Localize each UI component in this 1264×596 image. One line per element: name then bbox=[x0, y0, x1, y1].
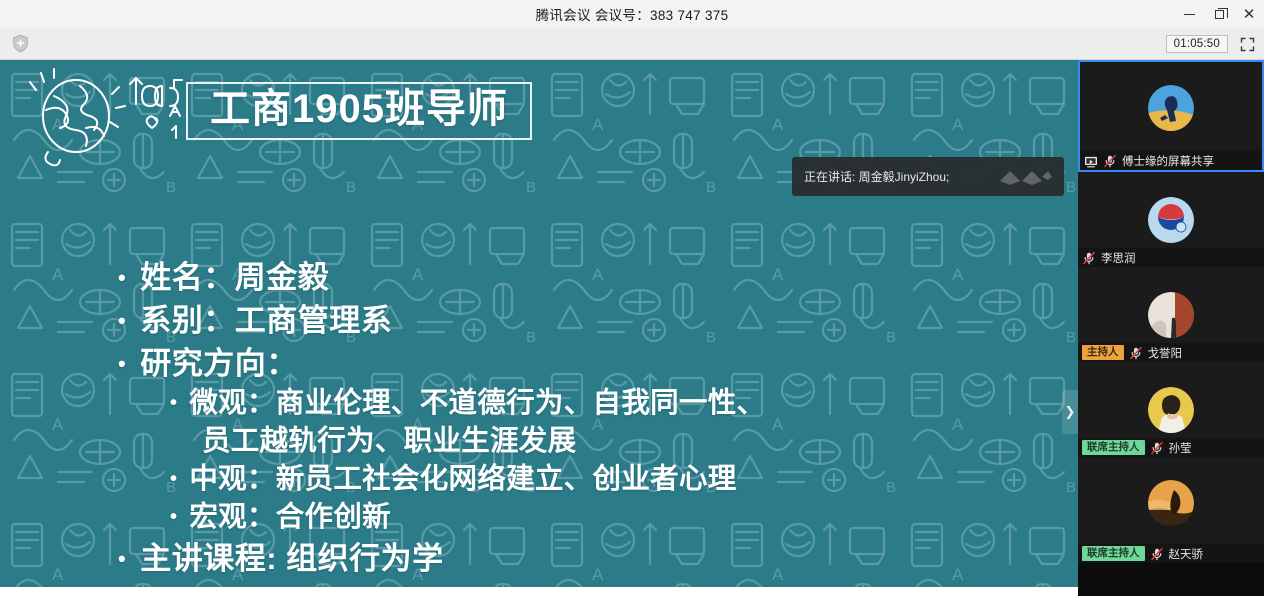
minimize-button[interactable] bbox=[1174, 0, 1204, 28]
participant-tile[interactable]: 傅士缘的屏幕共享 bbox=[1078, 60, 1264, 172]
mic-muted-icon bbox=[1129, 346, 1143, 360]
mic-muted-icon bbox=[1150, 441, 1164, 455]
avatar bbox=[1148, 480, 1194, 526]
active-speaker-toast: 正在讲话: 周金毅JinyiZhou; bbox=[792, 157, 1064, 196]
participant-name: 孙莹 bbox=[1169, 440, 1192, 456]
slide-bottom-strip bbox=[0, 587, 1078, 596]
participant-bar: 联席主持人 孙莹 bbox=[1078, 438, 1264, 457]
window-controls: ✕ bbox=[1174, 0, 1264, 28]
slide-subbullet-lead: 微观：商业伦理、不道德行为、自我同一性、 bbox=[170, 387, 765, 419]
participant-rail[interactable]: 傅士缘的屏幕共享 pepsi bbox=[1078, 60, 1264, 596]
avatar bbox=[1148, 292, 1194, 338]
globe-doodle-icon bbox=[24, 68, 184, 168]
host-badge: 主持人 bbox=[1082, 345, 1124, 361]
participant-tile[interactable]: 联席主持人 赵天骄 bbox=[1078, 457, 1264, 563]
participant-bar: 李思润 bbox=[1078, 248, 1264, 267]
close-icon: ✕ bbox=[1243, 7, 1256, 22]
fullscreen-icon bbox=[1240, 37, 1255, 52]
participant-bar: 主持人 戈誉阳 bbox=[1078, 343, 1264, 362]
participant-name: 李思润 bbox=[1101, 250, 1136, 266]
slide-subbullet: 宏观：合作创新 bbox=[170, 499, 1018, 537]
slide-body: 姓名：周金毅 系别：工商管理系 研究方向： 微观：商业伦理、不道德行为、自我同一… bbox=[118, 256, 1018, 580]
fullscreen-button[interactable] bbox=[1236, 33, 1258, 55]
slide-bullet: 研究方向： bbox=[118, 342, 1018, 385]
cohost-badge: 联席主持人 bbox=[1082, 440, 1145, 456]
screen-share-icon bbox=[1084, 155, 1098, 167]
slide-header: 工商1905班导师 bbox=[0, 60, 1078, 170]
minimize-icon bbox=[1184, 14, 1195, 15]
slide-subbullet-continuation: 员工越轨行为、职业生涯发展 bbox=[202, 423, 1018, 461]
chevron-right-icon: ❯ bbox=[1065, 404, 1076, 420]
cohost-badge: 联席主持人 bbox=[1082, 546, 1145, 562]
avatar: pepsi bbox=[1148, 197, 1194, 243]
mic-muted-icon bbox=[1103, 154, 1117, 168]
slide-bullet-course: 主讲课程: 组织行为学 bbox=[118, 537, 1018, 580]
slide-subbullet-group: 微观：商业伦理、不道德行为、自我同一性、 员工越轨行为、职业生涯发展 中观：新员… bbox=[170, 385, 1018, 537]
slide-bullet: 姓名：周金毅 bbox=[118, 256, 1018, 299]
meeting-stage: A B bbox=[0, 60, 1264, 596]
slide-subbullet: 中观：新员工社会化网络建立、创业者心理 bbox=[170, 461, 1018, 499]
mic-muted-icon bbox=[1082, 251, 1096, 265]
maximize-icon bbox=[1215, 10, 1224, 19]
slide-subbullet: 微观：商业伦理、不道德行为、自我同一性、 员工越轨行为、职业生涯发展 bbox=[170, 385, 1018, 461]
security-shield-button[interactable] bbox=[8, 33, 32, 55]
slide-title: 工商1905班导师 bbox=[210, 88, 508, 130]
maximize-button[interactable] bbox=[1204, 0, 1234, 28]
slide-subbullet-lead: 中观：新员工社会化网络建立、创业者心理 bbox=[170, 463, 737, 495]
toolbar-right-group: 01:05:50 bbox=[1166, 28, 1258, 60]
shield-icon bbox=[12, 34, 29, 53]
slide-subbullet-lead: 宏观：合作创新 bbox=[170, 501, 391, 533]
meeting-timer: 01:05:50 bbox=[1166, 35, 1228, 53]
sound-wave-icon bbox=[998, 167, 1052, 187]
participant-name: 傅士缘的屏幕共享 bbox=[1122, 153, 1214, 169]
participant-tile[interactable]: 联席主持人 孙莹 bbox=[1078, 362, 1264, 457]
participant-bar: 傅士缘的屏幕共享 bbox=[1080, 151, 1262, 170]
window-title: 腾讯会议 会议号：383 747 375 bbox=[536, 4, 729, 24]
mic-muted-icon bbox=[1150, 547, 1164, 561]
participant-bar: 联席主持人 赵天骄 bbox=[1078, 544, 1264, 563]
shared-screen[interactable]: A B bbox=[0, 60, 1078, 596]
avatar bbox=[1148, 85, 1194, 131]
collapse-rail-button[interactable]: ❯ bbox=[1062, 390, 1078, 434]
participant-name: 赵天骄 bbox=[1169, 546, 1204, 562]
participant-tile[interactable]: pepsi 李思润 bbox=[1078, 172, 1264, 267]
slide-title-box: 工商1905班导师 bbox=[186, 82, 532, 140]
participant-name: 戈誉阳 bbox=[1148, 345, 1183, 361]
meeting-toolbar: 01:05:50 bbox=[0, 28, 1264, 60]
slide-bullet: 系别：工商管理系 bbox=[118, 299, 1018, 342]
window-titlebar: 腾讯会议 会议号：383 747 375 ✕ bbox=[0, 0, 1264, 28]
participant-tile[interactable]: 主持人 戈誉阳 bbox=[1078, 267, 1264, 362]
avatar bbox=[1148, 387, 1194, 433]
close-button[interactable]: ✕ bbox=[1234, 0, 1264, 28]
active-speaker-label: 正在讲话: 周金毅JinyiZhou; bbox=[804, 168, 949, 185]
